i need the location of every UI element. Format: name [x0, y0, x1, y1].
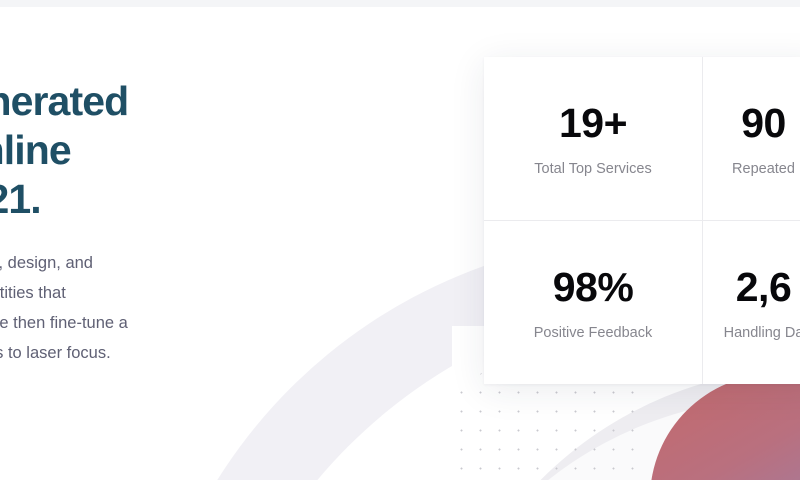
- stat-value: 90: [741, 99, 786, 147]
- page-root: ED c generated re online n 2021. rete st…: [0, 0, 800, 480]
- top-band: [0, 0, 800, 7]
- stat-label: Positive Feedback: [534, 324, 652, 343]
- stat-label: Total Top Services: [534, 160, 651, 179]
- paragraph-line-3: ur values. We then fine-tune a: [0, 308, 328, 338]
- hero-copy-block: ED c generated re online n 2021. rete st…: [0, 48, 328, 368]
- stat-label: Handling Da: [724, 324, 800, 343]
- page-title: c generated re online n 2021.: [0, 77, 328, 224]
- gradient-circle-shape: [650, 374, 800, 480]
- stat-cell-positive-feedback[interactable]: 98% Positive Feedback: [484, 221, 703, 384]
- hero-paragraph: rete strategy, design, and d brand ident…: [0, 248, 328, 368]
- stat-value: 98%: [553, 263, 634, 311]
- headline-line-1: c generated: [0, 77, 328, 126]
- dot-grid-mask: [452, 326, 488, 388]
- stat-label: Repeated: [732, 160, 795, 179]
- paragraph-line-1: rete strategy, design, and: [0, 248, 328, 278]
- hero-eyebrow-label: ED: [0, 48, 328, 64]
- headline-line-3: n 2021.: [0, 175, 328, 224]
- headline-line-2: re online: [0, 126, 328, 175]
- paragraph-line-2: d brand identities that: [0, 278, 328, 308]
- stat-value: 2,6: [736, 263, 792, 311]
- grey-sweep-shape: [430, 368, 800, 480]
- stat-cell-total-top-services[interactable]: 19+ Total Top Services: [484, 57, 703, 221]
- stat-cell-repeated[interactable]: 90 Repeated: [703, 57, 800, 221]
- stats-card: 19+ Total Top Services 90 Repeated 98% P…: [484, 57, 800, 384]
- grey-sweep-cutout: [404, 398, 800, 480]
- stat-value: 19+: [559, 99, 627, 147]
- paragraph-line-4: hat allows us to laser focus.: [0, 338, 328, 368]
- stat-cell-handling-data[interactable]: 2,6 Handling Da: [703, 221, 800, 384]
